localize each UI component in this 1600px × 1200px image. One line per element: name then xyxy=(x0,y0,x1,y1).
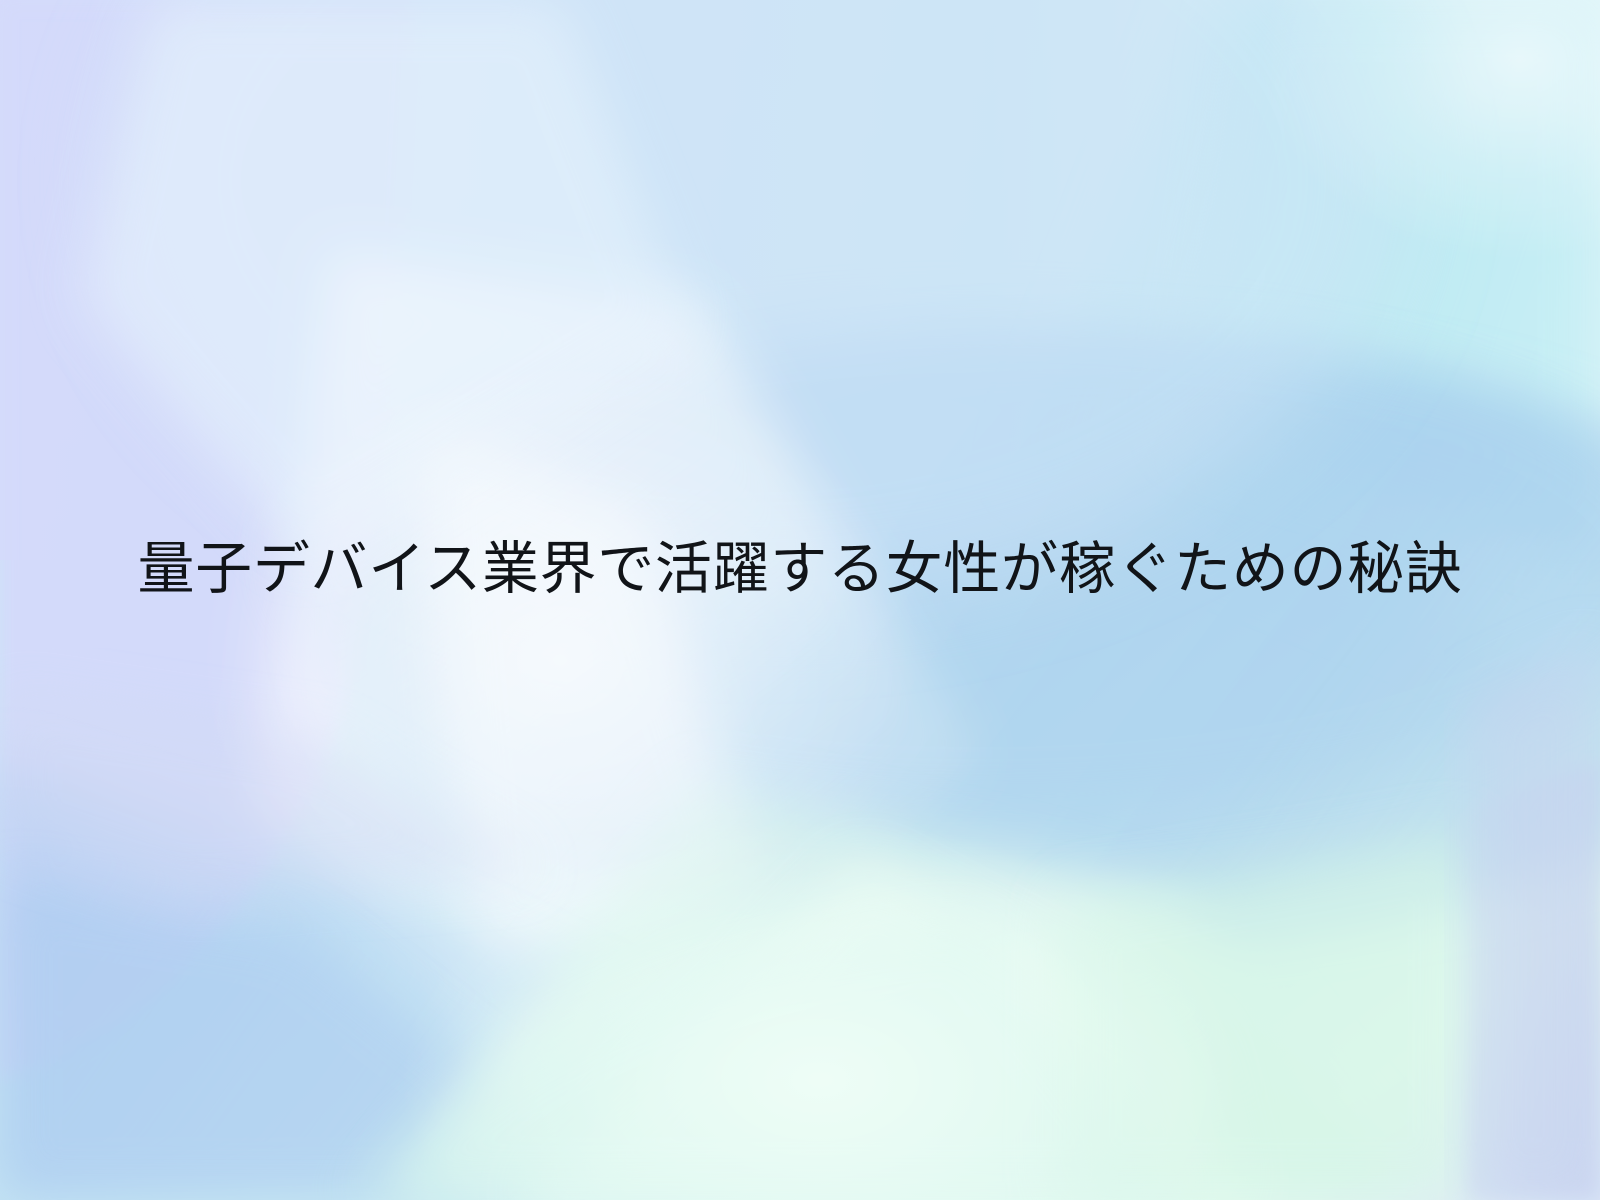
background-veil xyxy=(0,0,1600,1200)
title-slide: 量子デバイス業界で活躍する女性が稼ぐための秘訣 xyxy=(0,0,1600,1200)
slide-background xyxy=(0,0,1600,1200)
